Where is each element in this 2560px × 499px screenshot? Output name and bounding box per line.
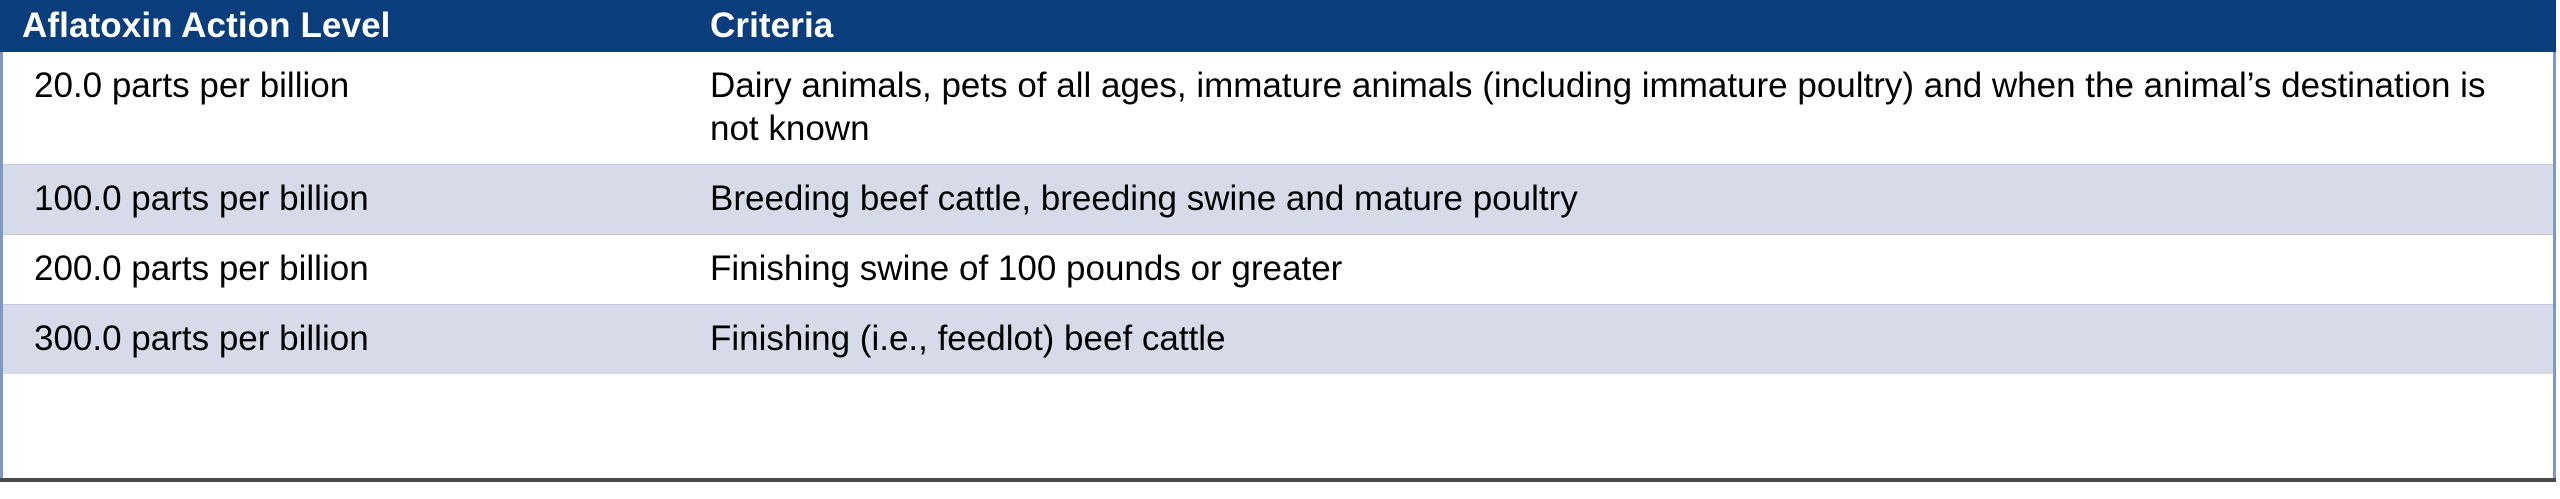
aflatoxin-action-level-table: Aflatoxin Action Level Criteria 20.0 par… (0, 0, 2556, 374)
table-header: Aflatoxin Action Level Criteria (0, 0, 2556, 52)
table-header-row: Aflatoxin Action Level Criteria (0, 0, 2556, 52)
cell-criteria: Finishing (i.e., feedlot) beef cattle (688, 305, 2556, 375)
table-body: 20.0 parts per billion Dairy animals, pe… (0, 52, 2556, 374)
table-row: 20.0 parts per billion Dairy animals, pe… (0, 52, 2556, 165)
cell-action-level: 100.0 parts per billion (0, 165, 688, 235)
cell-criteria: Dairy animals, pets of all ages, immatur… (688, 52, 2556, 165)
column-header-criteria: Criteria (688, 0, 2556, 52)
cell-criteria: Breeding beef cattle, breeding swine and… (688, 165, 2556, 235)
table-row: 100.0 parts per billion Breeding beef ca… (0, 165, 2556, 235)
column-header-aflatoxin-action-level: Aflatoxin Action Level (0, 0, 688, 52)
cell-action-level: 20.0 parts per billion (0, 52, 688, 165)
table-bottom-rule (0, 478, 2556, 482)
cell-action-level: 200.0 parts per billion (0, 235, 688, 305)
table-right-border (2553, 52, 2556, 478)
table-left-border (0, 52, 3, 478)
table-row: 200.0 parts per billion Finishing swine … (0, 235, 2556, 305)
aflatoxin-action-level-table-wrapper: Aflatoxin Action Level Criteria 20.0 par… (0, 0, 2560, 374)
cell-action-level: 300.0 parts per billion (0, 305, 688, 375)
cell-criteria: Finishing swine of 100 pounds or greater (688, 235, 2556, 305)
table-screenshot: Aflatoxin Action Level Criteria 20.0 par… (0, 0, 2560, 499)
table-row: 300.0 parts per billion Finishing (i.e.,… (0, 305, 2556, 375)
